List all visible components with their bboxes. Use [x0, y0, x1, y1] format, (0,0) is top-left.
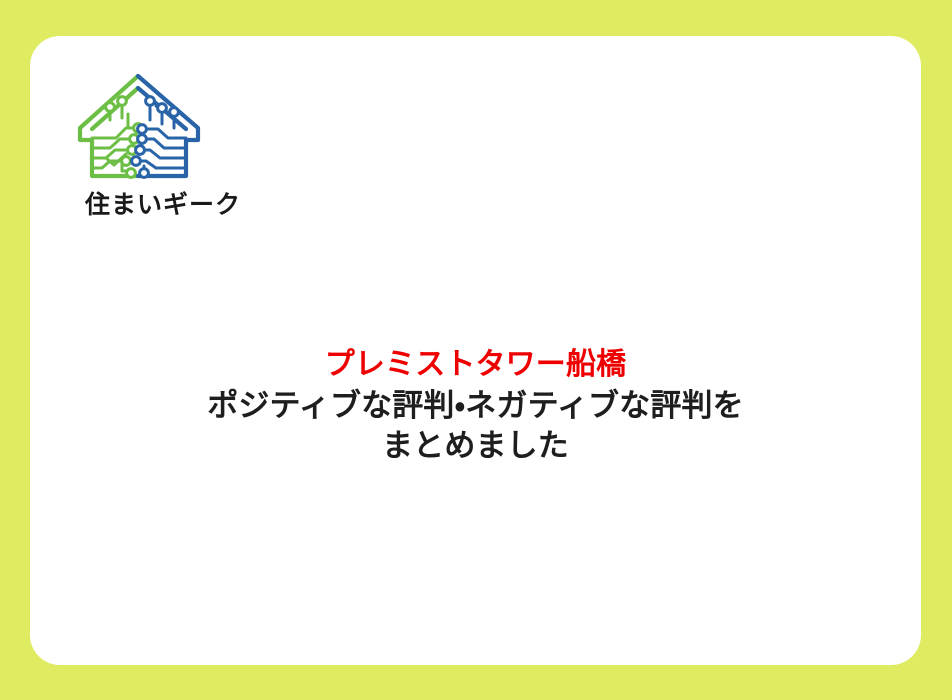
circuit-house-logo-icon [76, 66, 202, 182]
headline-title: プレミストタワー船橋 [30, 346, 921, 384]
content-card: 住まいギーク プレミストタワー船橋 ポジティブな評判・ネガティブな評判を まとめ… [30, 36, 921, 665]
headline-subtitle-line-1: ポジティブな評判・ネガティブな評判を [30, 386, 921, 426]
brand-block: 住まいギーク [58, 66, 288, 220]
slide-root: 住まいギーク プレミストタワー船橋 ポジティブな評判・ネガティブな評判を まとめ… [0, 0, 952, 700]
brand-name: 住まいギーク [85, 192, 288, 220]
headline-block: プレミストタワー船橋 ポジティブな評判・ネガティブな評判を まとめました [30, 346, 921, 466]
headline-subtitle-line-2: まとめました [30, 426, 921, 466]
